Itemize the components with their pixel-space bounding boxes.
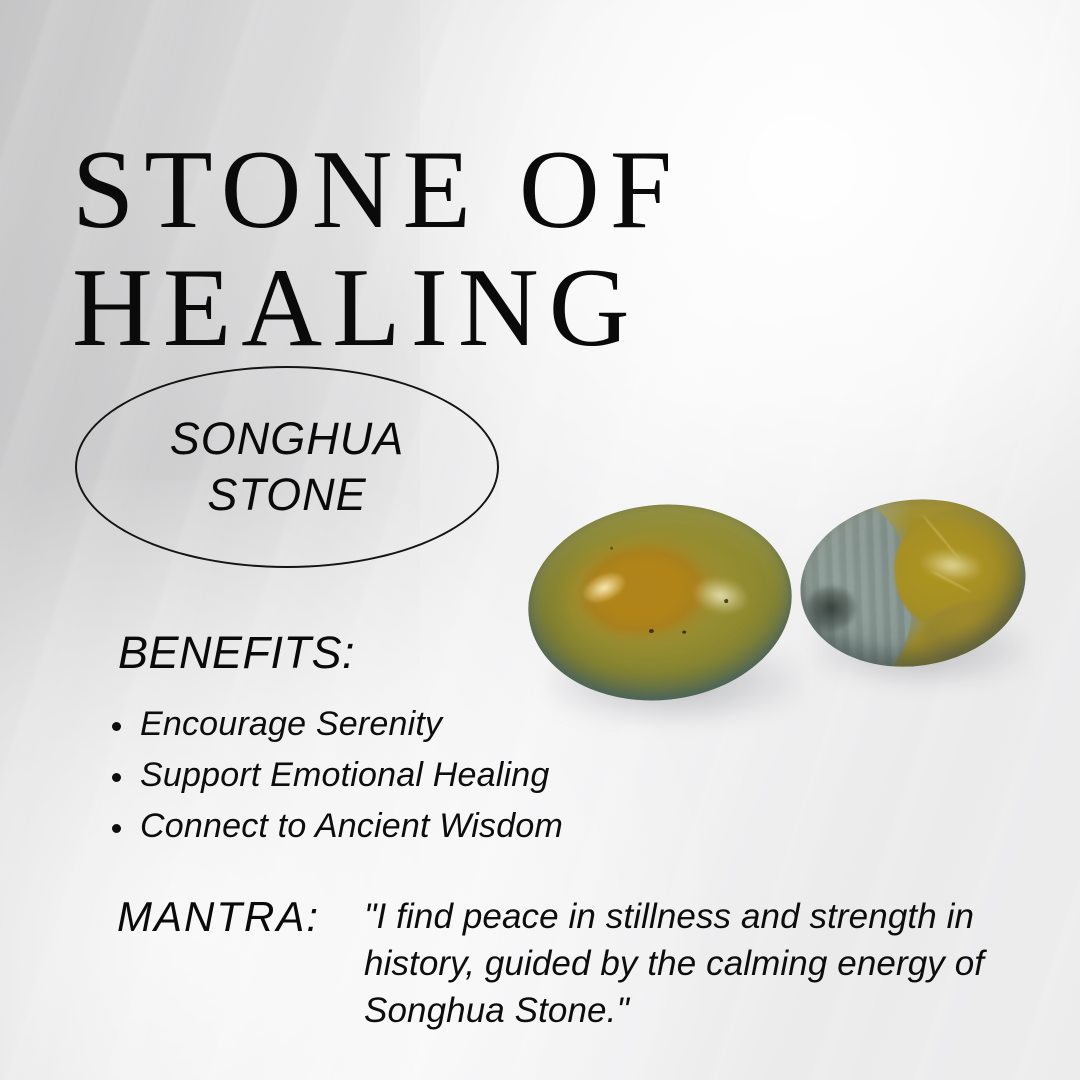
list-item: Connect to Ancient Wisdom (104, 801, 563, 852)
list-item: Encourage Serenity (104, 699, 563, 750)
stone-of-healing-poster: STONE OF HEALING SONGHUA STONE BENE (0, 0, 1080, 1080)
mantra-label: MANTRA: (117, 893, 320, 941)
benefits-heading: BENEFITS: (118, 627, 355, 679)
stone-right-image (790, 485, 1037, 681)
list-item: Support Emotional Healing (104, 750, 563, 801)
mantra-text: "I find peace in stillness and strength … (364, 893, 1034, 1034)
benefits-list: Encourage Serenity Support Emotional Hea… (104, 699, 563, 852)
